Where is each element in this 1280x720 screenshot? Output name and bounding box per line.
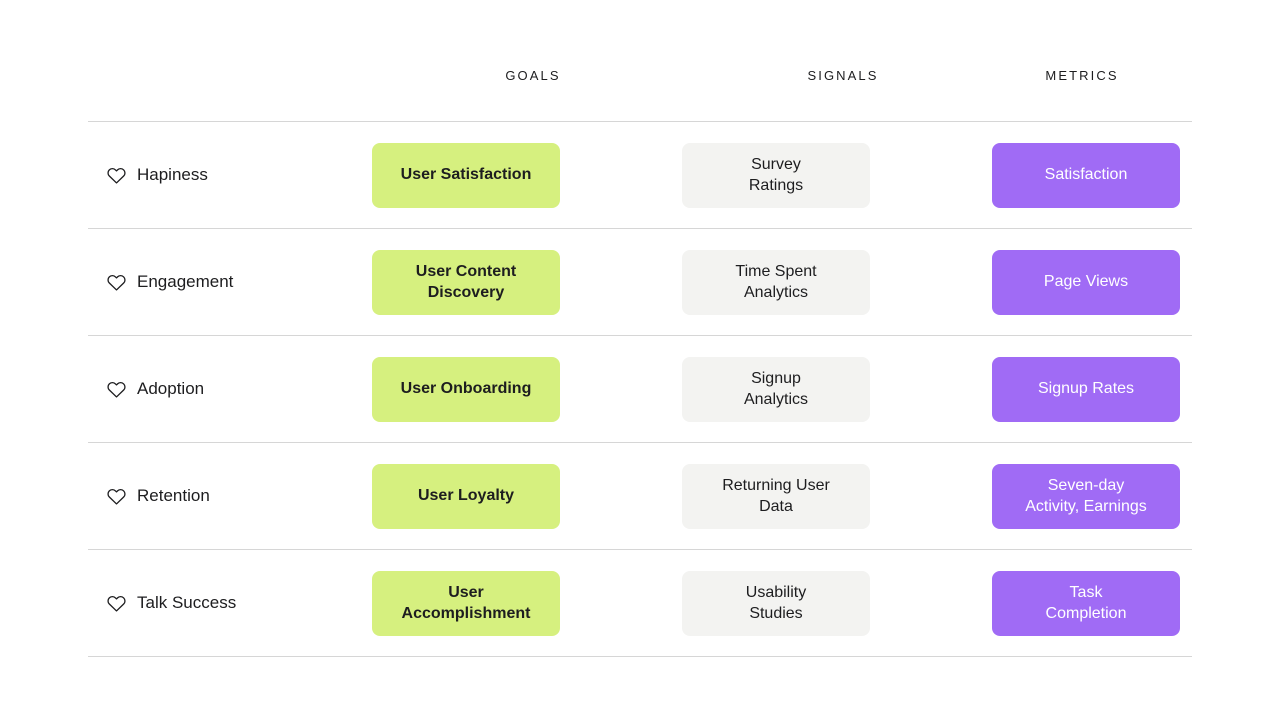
signal-pill[interactable]: SurveyRatings: [682, 143, 870, 208]
table-row-0: Hapiness User Satisfaction SurveyRatings…: [88, 122, 1192, 228]
metric-pill[interactable]: TaskCompletion: [992, 571, 1180, 636]
heart-outline-icon: [106, 272, 127, 293]
goal-pill[interactable]: User ContentDiscovery: [372, 250, 560, 315]
goal-pill[interactable]: User Onboarding: [372, 357, 560, 422]
row-label: Engagement: [88, 272, 372, 293]
signal-pill[interactable]: UsabilityStudies: [682, 571, 870, 636]
cell-goal: User Satisfaction: [372, 143, 682, 208]
cell-goal: UserAccomplishment: [372, 571, 682, 636]
signal-pill[interactable]: Returning UserData: [682, 464, 870, 529]
cell-goal: User ContentDiscovery: [372, 250, 682, 315]
table-header-row: GOALS SIGNALS METRICS: [88, 0, 1192, 121]
table-row-3: Retention User Loyalty Returning UserDat…: [88, 443, 1192, 549]
row-label: Talk Success: [88, 593, 372, 614]
cell-goal: User Onboarding: [372, 357, 682, 422]
cell-goal: User Loyalty: [372, 464, 682, 529]
cell-signal: Returning UserData: [682, 464, 992, 529]
row-label: Adoption: [88, 379, 372, 400]
cell-metric: Seven-dayActivity, Earnings: [992, 464, 1192, 529]
row-label-text: Adoption: [137, 379, 204, 399]
header-cell-goals: GOALS: [378, 38, 688, 83]
cell-metric: Page Views: [992, 250, 1192, 315]
cell-signal: UsabilityStudies: [682, 571, 992, 636]
header-cell-metrics: METRICS: [982, 38, 1182, 83]
cell-metric: TaskCompletion: [992, 571, 1192, 636]
cell-metric: Signup Rates: [992, 357, 1192, 422]
goal-pill[interactable]: User Satisfaction: [372, 143, 560, 208]
heart-outline-icon: [106, 593, 127, 614]
metric-pill[interactable]: Seven-dayActivity, Earnings: [992, 464, 1180, 529]
row-label-text: Engagement: [137, 272, 233, 292]
table-body: Hapiness User Satisfaction SurveyRatings…: [88, 122, 1192, 657]
signal-pill[interactable]: Time SpentAnalytics: [682, 250, 870, 315]
metric-pill[interactable]: Signup Rates: [992, 357, 1180, 422]
cell-metric: Satisfaction: [992, 143, 1192, 208]
heart-outline-icon: [106, 379, 127, 400]
header-cell-signals: SIGNALS: [688, 38, 998, 83]
table-row-2: Adoption User Onboarding SignupAnalytics…: [88, 336, 1192, 442]
goal-pill[interactable]: UserAccomplishment: [372, 571, 560, 636]
divider-row: [88, 656, 1192, 657]
metric-pill[interactable]: Page Views: [992, 250, 1180, 315]
row-label-text: Retention: [137, 486, 210, 506]
row-label: Hapiness: [88, 165, 372, 186]
row-label: Retention: [88, 486, 372, 507]
table-row-1: Engagement User ContentDiscovery Time Sp…: [88, 229, 1192, 335]
metric-pill[interactable]: Satisfaction: [992, 143, 1180, 208]
goals-signals-metrics-table: GOALS SIGNALS METRICS Hapiness User Sati…: [88, 0, 1192, 720]
heart-outline-icon: [106, 486, 127, 507]
signal-pill[interactable]: SignupAnalytics: [682, 357, 870, 422]
goal-pill[interactable]: User Loyalty: [372, 464, 560, 529]
table-row-4: Talk Success UserAccomplishment Usabilit…: [88, 550, 1192, 656]
cell-signal: SurveyRatings: [682, 143, 992, 208]
row-label-text: Talk Success: [137, 593, 236, 613]
heart-outline-icon: [106, 165, 127, 186]
cell-signal: Time SpentAnalytics: [682, 250, 992, 315]
cell-signal: SignupAnalytics: [682, 357, 992, 422]
row-label-text: Hapiness: [137, 165, 208, 185]
